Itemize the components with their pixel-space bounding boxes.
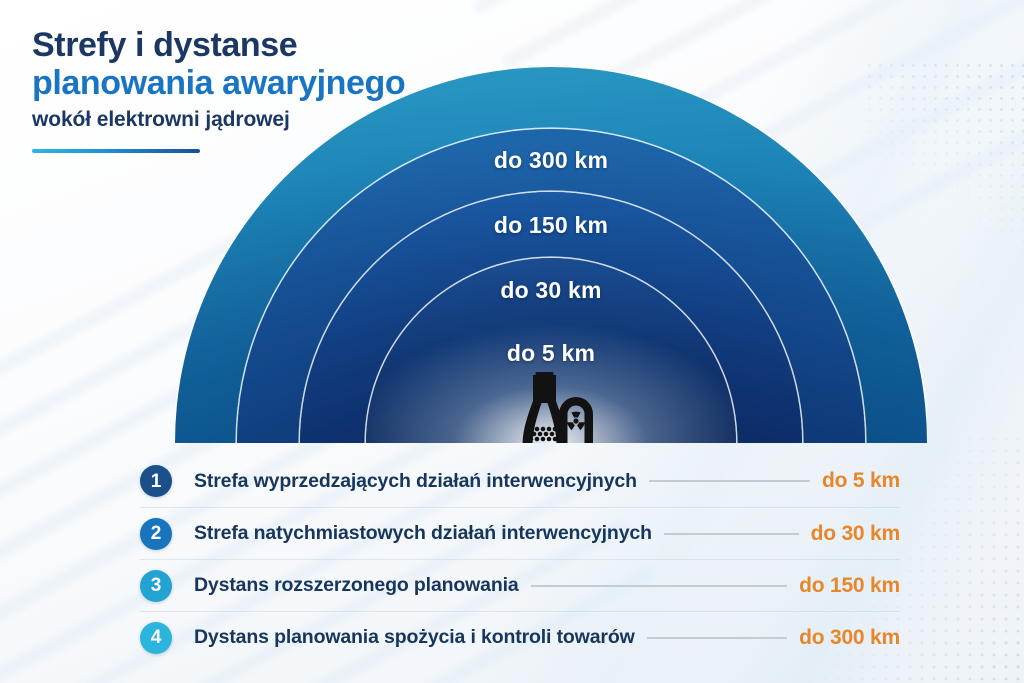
zone-label-300km: do 300 km — [175, 147, 927, 174]
legend-label-4: Dystans planowania spożycia i kontroli t… — [194, 626, 635, 649]
nuclear-power-plant-icon — [499, 361, 603, 443]
legend-label-1: Strefa wyprzedzających działań interwenc… — [194, 470, 637, 493]
title-line-1: Strefy i dystanse — [32, 26, 405, 64]
legend-connector-3 — [531, 585, 787, 587]
legend-value-2: do 30 km — [811, 522, 900, 546]
legend-label-2: Strefa natychmiastowych działań interwen… — [194, 522, 652, 545]
legend-badge-3: 3 — [140, 570, 172, 602]
zone-label-30km: do 30 km — [175, 277, 927, 304]
legend-row-4[interactable]: 4 Dystans planowania spożycia i kontroli… — [140, 611, 900, 663]
legend-connector-2 — [664, 533, 799, 535]
infographic-page: Strefy i dystanse planowania awaryjnego … — [0, 0, 1024, 683]
legend-value-1: do 5 km — [822, 469, 900, 493]
legend-row-3[interactable]: 3 Dystans rozszerzonego planowania do 15… — [140, 559, 900, 611]
legend-row-1[interactable]: 1 Strefa wyprzedzających działań interwe… — [140, 455, 900, 507]
zone-label-150km: do 150 km — [175, 212, 927, 239]
legend-badge-4: 4 — [140, 622, 172, 654]
legend-connector-1 — [649, 480, 810, 482]
legend-badge-2: 2 — [140, 518, 172, 550]
legend-label-3: Dystans rozszerzonego planowania — [194, 574, 519, 597]
legend-connector-4 — [647, 637, 787, 639]
legend-badge-1: 1 — [140, 465, 172, 497]
zones-legend: 1 Strefa wyprzedzających działań interwe… — [140, 455, 900, 663]
legend-value-3: do 150 km — [799, 574, 900, 598]
concentric-zones-diagram: do 300 km do 150 km do 30 km do 5 km — [175, 67, 927, 443]
legend-row-2[interactable]: 2 Strefa natychmiastowych działań interw… — [140, 507, 900, 559]
legend-value-4: do 300 km — [799, 626, 900, 650]
